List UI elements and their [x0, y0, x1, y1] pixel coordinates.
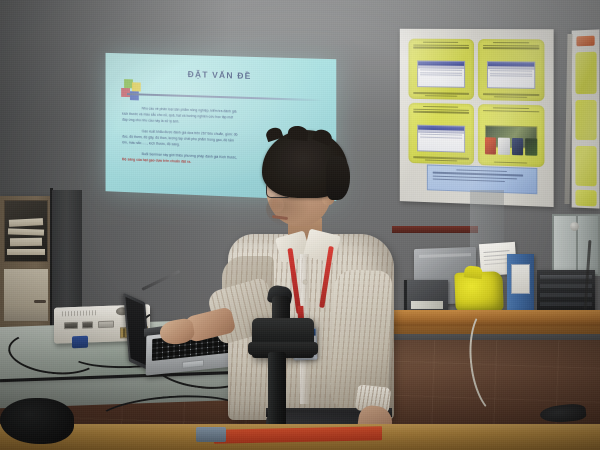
poster-panel-2 — [477, 39, 544, 101]
blue-device-icon — [512, 138, 524, 155]
cabinet-glass-door — [4, 200, 48, 262]
foreground-dark-object — [0, 398, 74, 444]
poster-panel — [575, 190, 596, 207]
poster-panel-grid — [408, 39, 544, 167]
poster-panel — [575, 146, 596, 186]
chair-back-rail — [392, 226, 478, 233]
screenshot-thumbnail — [486, 61, 535, 89]
device-icon-row — [484, 137, 537, 156]
vga-port — [64, 322, 78, 329]
powerpoint-pinwheel-logo — [121, 79, 147, 104]
photo-scene: ĐẶT VẤN ĐỀ Nhu cầu về phân loại sản phẩm… — [0, 0, 600, 450]
poster-panel-1 — [408, 39, 473, 100]
poster-panel-4 — [477, 104, 544, 167]
research-poster — [400, 29, 554, 207]
usb-port — [82, 321, 93, 328]
screenshot-thumbnail — [417, 125, 464, 153]
cabinet-handle — [34, 300, 46, 303]
cabinet-lower-door — [3, 268, 49, 322]
poster-panel — [575, 52, 596, 94]
poster-header-band — [576, 36, 594, 47]
screenshot-thumbnail — [417, 60, 464, 87]
slide-divider — [127, 93, 323, 101]
green-display-icon — [526, 138, 538, 156]
blue-ring-binder — [507, 254, 534, 312]
yellow-plastic-bag — [454, 271, 503, 313]
spiral-notebook — [404, 280, 448, 312]
presenter — [226, 130, 396, 450]
power-port — [98, 321, 114, 329]
wall-knob — [570, 222, 579, 231]
poster-panel-3 — [408, 103, 473, 165]
foreground-small-device — [196, 427, 226, 442]
red-device-icon — [484, 137, 496, 154]
white-device-icon — [498, 138, 510, 155]
hair-sideburn — [326, 156, 350, 200]
secondary-poster — [572, 29, 600, 208]
poster-panel — [575, 100, 596, 140]
nose — [272, 198, 284, 212]
laptop-touchpad[interactable] — [182, 359, 204, 368]
